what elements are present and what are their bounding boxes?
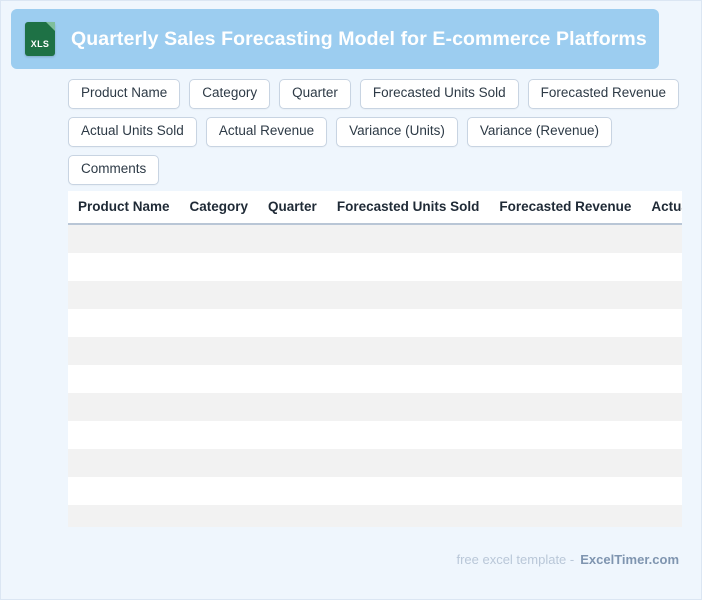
xls-file-icon: XLS xyxy=(25,22,55,56)
field-chip-forecasted-revenue[interactable]: Forecasted Revenue xyxy=(528,79,679,109)
table-cell[interactable] xyxy=(327,421,490,449)
field-chip-actual-revenue[interactable]: Actual Revenue xyxy=(206,117,327,147)
table-cell[interactable] xyxy=(489,281,641,309)
table-cell[interactable] xyxy=(489,253,641,281)
table-cell[interactable] xyxy=(489,337,641,365)
table-cell[interactable] xyxy=(180,449,259,477)
table-cell[interactable] xyxy=(641,449,682,477)
table-row[interactable] xyxy=(68,365,682,393)
table-row[interactable] xyxy=(68,253,682,281)
field-chip-variance-revenue[interactable]: Variance (Revenue) xyxy=(467,117,612,147)
table-row[interactable] xyxy=(68,477,682,505)
table-cell[interactable] xyxy=(641,281,682,309)
table-cell[interactable] xyxy=(180,337,259,365)
table-cell[interactable] xyxy=(489,309,641,337)
icon-corner-fold xyxy=(46,22,55,31)
field-chip-variance-units[interactable]: Variance (Units) xyxy=(336,117,458,147)
table-row[interactable] xyxy=(68,337,682,365)
table-cell[interactable] xyxy=(258,337,327,365)
table-cell[interactable] xyxy=(180,309,259,337)
table-cell[interactable] xyxy=(68,393,180,421)
table-cell[interactable] xyxy=(68,477,180,505)
table-cell[interactable] xyxy=(641,309,682,337)
spreadsheet-table-container: Product Name Category Quarter Forecasted… xyxy=(68,191,682,527)
table-body xyxy=(68,224,682,527)
table-cell[interactable] xyxy=(258,477,327,505)
table-cell[interactable] xyxy=(68,224,180,253)
table-cell[interactable] xyxy=(327,393,490,421)
column-header-forecasted-units-sold[interactable]: Forecasted Units Sold xyxy=(327,191,490,224)
table-cell[interactable] xyxy=(641,477,682,505)
table-cell[interactable] xyxy=(180,393,259,421)
table-cell[interactable] xyxy=(641,505,682,527)
table-cell[interactable] xyxy=(68,309,180,337)
table-cell[interactable] xyxy=(641,253,682,281)
table-cell[interactable] xyxy=(258,365,327,393)
table-cell[interactable] xyxy=(68,337,180,365)
table-cell[interactable] xyxy=(641,224,682,253)
table-cell[interactable] xyxy=(180,505,259,527)
table-cell[interactable] xyxy=(489,421,641,449)
table-cell[interactable] xyxy=(258,449,327,477)
column-header-category[interactable]: Category xyxy=(180,191,259,224)
table-cell[interactable] xyxy=(180,281,259,309)
footer-credit: free excel template - ExcelTimer.com xyxy=(456,552,679,567)
table-cell[interactable] xyxy=(489,449,641,477)
table-cell[interactable] xyxy=(258,421,327,449)
table-cell[interactable] xyxy=(180,253,259,281)
spreadsheet-table: Product Name Category Quarter Forecasted… xyxy=(68,191,682,527)
table-header-row-group: Product Name Category Quarter Forecasted… xyxy=(68,191,682,224)
table-cell[interactable] xyxy=(489,224,641,253)
table-cell[interactable] xyxy=(68,449,180,477)
table-cell[interactable] xyxy=(68,365,180,393)
table-cell[interactable] xyxy=(641,393,682,421)
table-cell[interactable] xyxy=(327,365,490,393)
table-cell[interactable] xyxy=(327,309,490,337)
column-header-forecasted-revenue[interactable]: Forecasted Revenue xyxy=(489,191,641,224)
table-cell[interactable] xyxy=(489,393,641,421)
table-cell[interactable] xyxy=(327,477,490,505)
table-cell[interactable] xyxy=(258,309,327,337)
table-cell[interactable] xyxy=(68,281,180,309)
field-chip-forecasted-units-sold[interactable]: Forecasted Units Sold xyxy=(360,79,519,109)
footer-brand-link[interactable]: ExcelTimer.com xyxy=(580,552,679,567)
table-cell[interactable] xyxy=(258,505,327,527)
table-cell[interactable] xyxy=(327,224,490,253)
field-chip-product-name[interactable]: Product Name xyxy=(68,79,180,109)
table-cell[interactable] xyxy=(68,253,180,281)
field-chip-category[interactable]: Category xyxy=(189,79,270,109)
table-cell[interactable] xyxy=(327,337,490,365)
table-cell[interactable] xyxy=(258,224,327,253)
table-cell[interactable] xyxy=(180,421,259,449)
table-cell[interactable] xyxy=(68,421,180,449)
field-chip-quarter[interactable]: Quarter xyxy=(279,79,351,109)
table-cell[interactable] xyxy=(489,477,641,505)
table-row[interactable] xyxy=(68,393,682,421)
table-row[interactable] xyxy=(68,421,682,449)
table-cell[interactable] xyxy=(327,253,490,281)
table-row[interactable] xyxy=(68,309,682,337)
table-row[interactable] xyxy=(68,449,682,477)
table-cell[interactable] xyxy=(641,365,682,393)
table-cell[interactable] xyxy=(68,505,180,527)
table-cell[interactable] xyxy=(258,281,327,309)
table-cell[interactable] xyxy=(258,393,327,421)
table-cell[interactable] xyxy=(180,365,259,393)
field-chip-comments[interactable]: Comments xyxy=(68,155,159,185)
table-cell[interactable] xyxy=(641,421,682,449)
column-header-product-name[interactable]: Product Name xyxy=(68,191,180,224)
page-header: XLS Quarterly Sales Forecasting Model fo… xyxy=(11,9,659,69)
table-cell[interactable] xyxy=(180,224,259,253)
xls-icon-label: XLS xyxy=(25,39,55,49)
field-chip-list: Product Name Category Quarter Forecasted… xyxy=(68,79,688,185)
table-row[interactable] xyxy=(68,224,682,253)
field-chip-actual-units-sold[interactable]: Actual Units Sold xyxy=(68,117,197,147)
table-cell[interactable] xyxy=(489,365,641,393)
table-cell[interactable] xyxy=(489,505,641,527)
table-header-row: Product Name Category Quarter Forecasted… xyxy=(68,191,682,224)
table-row[interactable] xyxy=(68,505,682,527)
template-page: XLS Quarterly Sales Forecasting Model fo… xyxy=(0,0,702,600)
table-cell[interactable] xyxy=(258,253,327,281)
table-cell[interactable] xyxy=(327,281,490,309)
table-row[interactable] xyxy=(68,281,682,309)
table-cell[interactable] xyxy=(180,477,259,505)
footer-free-text: free excel template - xyxy=(456,552,574,567)
page-title: Quarterly Sales Forecasting Model for E-… xyxy=(71,28,647,51)
table-cell[interactable] xyxy=(327,505,490,527)
column-header-actual-units-sold[interactable]: Actual Units Sold xyxy=(641,191,682,224)
table-cell[interactable] xyxy=(327,449,490,477)
table-cell[interactable] xyxy=(641,337,682,365)
column-header-quarter[interactable]: Quarter xyxy=(258,191,327,224)
